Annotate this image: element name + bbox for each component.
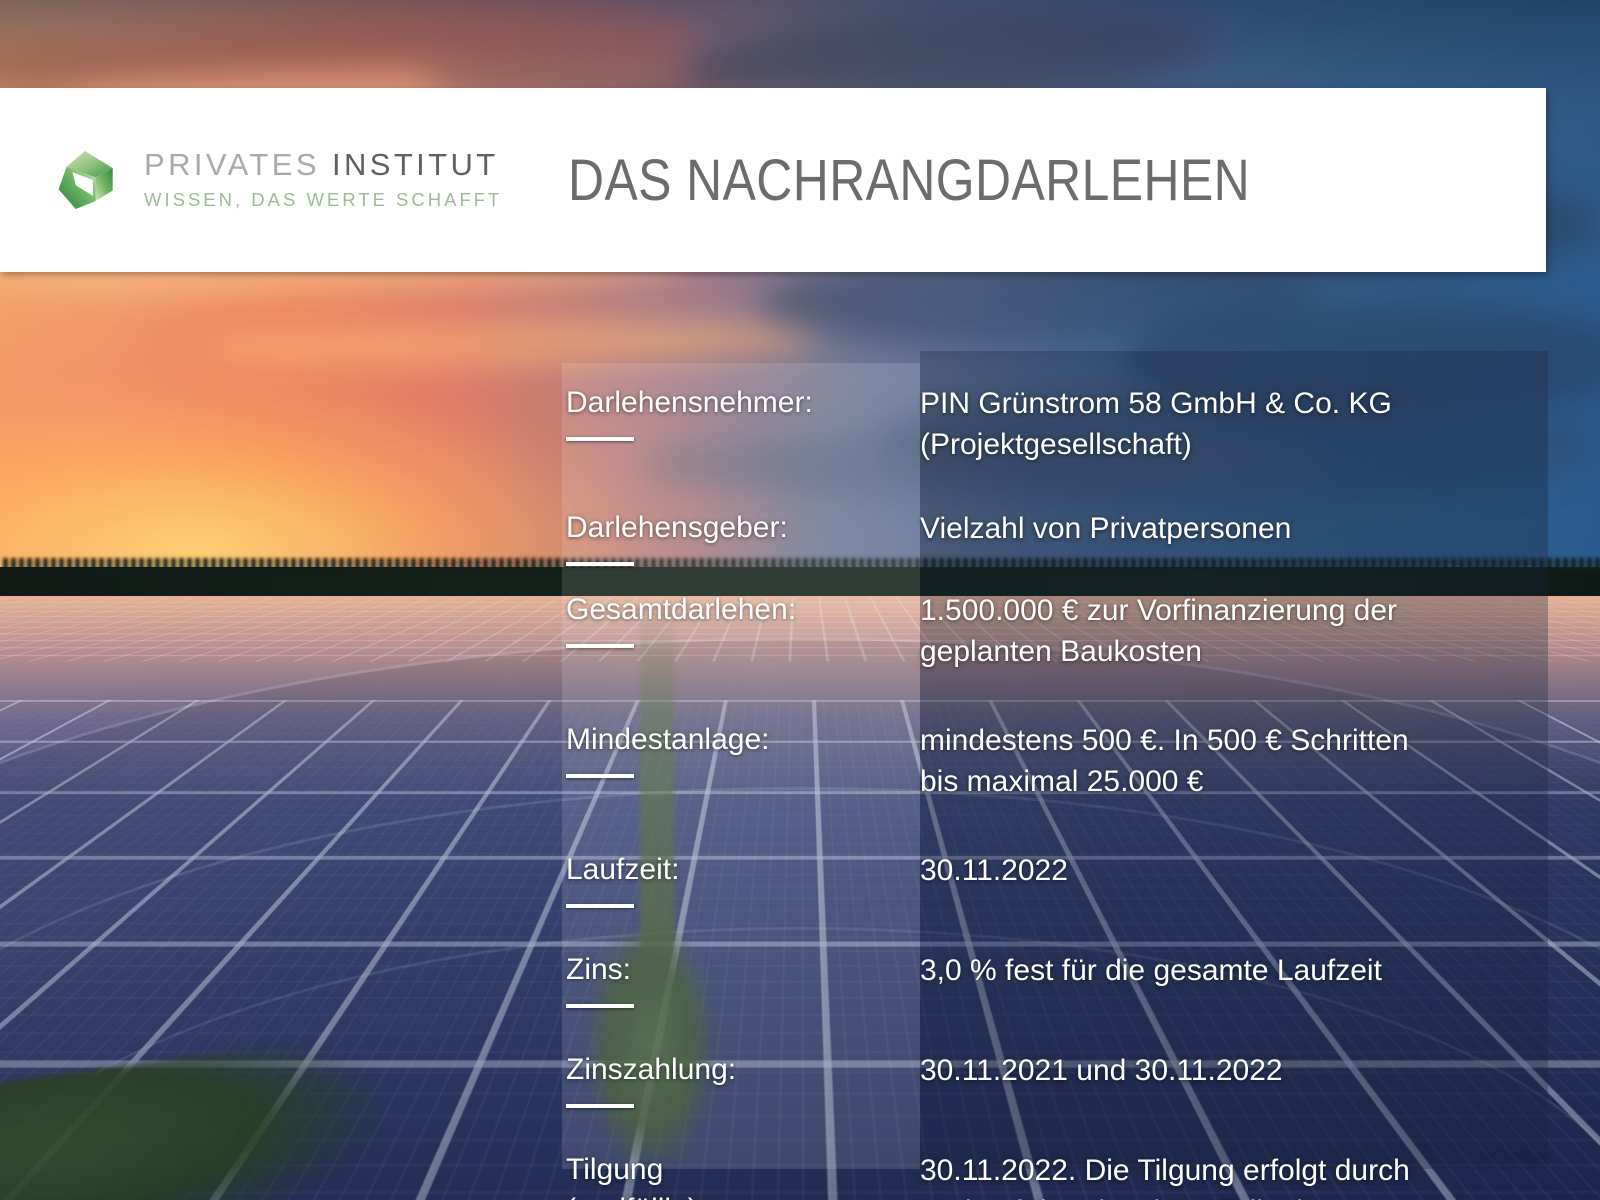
row-label: Mindestanlage: (566, 720, 920, 760)
table-row: Darlehensgeber: Vielzahl von Privatperso… (566, 508, 1556, 566)
row-label: Zinszahlung: (566, 1050, 920, 1090)
row-value: 30.11.2022 (920, 850, 1556, 908)
table-row-label-cell: Darlehensnehmer: (566, 383, 920, 465)
table-row: Zins: 3,0 % fest für die gesamte Laufzei… (566, 950, 1556, 1008)
table-row: Darlehensnehmer: PIN Grünstrom 58 GmbH &… (566, 383, 1556, 465)
brand-word-privates: PRIVATES (144, 147, 320, 182)
row-label: Darlehensgeber: (566, 508, 920, 548)
row-label: Gesamtdarlehen: (566, 590, 920, 630)
loan-terms-table: Darlehensnehmer: PIN Grünstrom 58 GmbH &… (566, 363, 1556, 1200)
label-underline (566, 437, 634, 441)
brand-wordmark: PRIVATES INSTITUT WISSEN, DAS WERTE SCHA… (144, 149, 502, 211)
label-underline (566, 562, 634, 566)
brand-name: PRIVATES INSTITUT (144, 149, 502, 180)
row-value: 3,0 % fest für die gesamte Laufzeit (920, 950, 1556, 1008)
table-row: Zinszahlung: 30.11.2021 und 30.11.2022 (566, 1050, 1556, 1108)
table-row-label-cell: Laufzeit: (566, 850, 920, 908)
label-underline (566, 774, 634, 778)
table-row-label-cell: Tilgung (endfällig): (566, 1150, 920, 1200)
label-underline (566, 1104, 634, 1108)
table-row: Gesamtdarlehen: 1.500.000 € zur Vorfinan… (566, 590, 1556, 672)
table-row: Laufzeit: 30.11.2022 (566, 850, 1556, 908)
row-value: 30.11.2022. Die Tilgung erfolgt durch Ve… (920, 1150, 1556, 1200)
brand-word-institut: INSTITUT (332, 147, 499, 182)
row-label: Zins: (566, 950, 920, 990)
row-value: 1.500.000 € zur Vorfinanzierung der gepl… (920, 590, 1556, 672)
privates-institut-logo-mark-icon (52, 147, 118, 213)
row-label: Tilgung (endfällig): (566, 1150, 920, 1200)
label-underline (566, 644, 634, 648)
row-value: Vielzahl von Privatpersonen (920, 508, 1556, 566)
table-row-label-cell: Mindestanlage: (566, 720, 920, 802)
table-row: Mindestanlage: mindestens 500 €. In 500 … (566, 720, 1556, 802)
row-label: Laufzeit: (566, 850, 920, 890)
label-underline (566, 904, 634, 908)
row-label: Darlehensnehmer: (566, 383, 920, 423)
slide-header-bar: PRIVATES INSTITUT WISSEN, DAS WERTE SCHA… (0, 88, 1546, 272)
row-value: 30.11.2021 und 30.11.2022 (920, 1050, 1556, 1108)
table-row-label-cell: Gesamtdarlehen: (566, 590, 920, 672)
brand-tagline: WISSEN, DAS WERTE SCHAFFT (144, 189, 502, 211)
brand-logo: PRIVATES INSTITUT WISSEN, DAS WERTE SCHA… (52, 147, 502, 213)
page-title: DAS NACHRANGDARLEHEN (568, 147, 1250, 214)
table-row-label-cell: Darlehensgeber: (566, 508, 920, 566)
table-row-label-cell: Zins: (566, 950, 920, 1008)
table-row-label-cell: Zinszahlung: (566, 1050, 920, 1108)
row-value: mindestens 500 €. In 500 € Schritten bis… (920, 720, 1556, 802)
label-underline (566, 1004, 634, 1008)
table-row: Tilgung (endfällig): 30.11.2022. Die Til… (566, 1150, 1556, 1200)
row-value: PIN Grünstrom 58 GmbH & Co. KG (Projektg… (920, 383, 1556, 465)
presentation-slide: PRIVATES INSTITUT WISSEN, DAS WERTE SCHA… (0, 0, 1600, 1200)
